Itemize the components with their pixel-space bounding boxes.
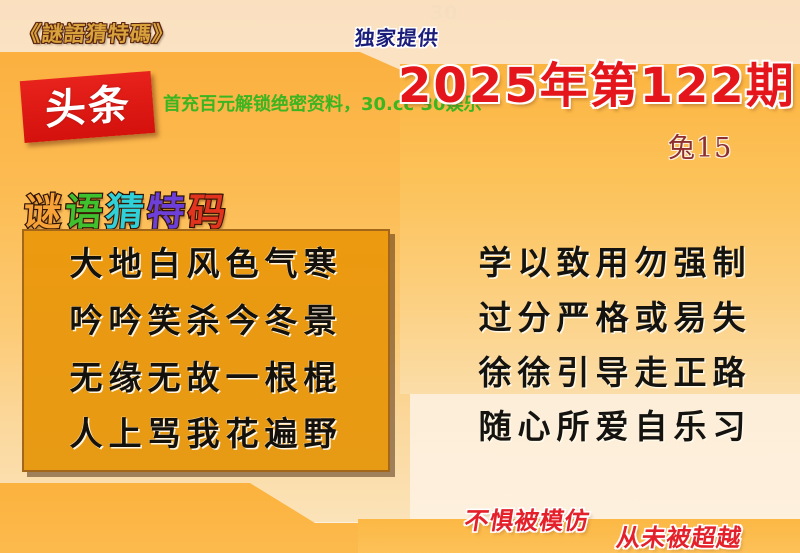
rainbow-headline: 谜语猜特码 [22, 181, 232, 236]
slogan-left: 不惧被模仿 [462, 501, 593, 536]
rainbow-headline-char: 语 [63, 181, 109, 236]
traditional-title: 《謎語猜特碼》 [18, 18, 175, 48]
riddle-line: 人上骂我花遍野 [24, 406, 388, 463]
toutiao-badge-label: 头条 [44, 83, 130, 131]
riddle-line: 无缘无故一根棍 [24, 350, 388, 407]
riddle-line: 大地白风色气寒 [24, 236, 388, 293]
riddle-box: 大地白风色气寒 吟吟笑杀今冬景 无缘无故一根棍 人上骂我花遍野 [22, 229, 390, 472]
rainbow-headline-char: 特 [145, 181, 191, 236]
verse-line: 学以致用勿强制 [440, 236, 790, 291]
riddle-line: 吟吟笑杀今冬景 [24, 293, 388, 350]
lottery-poster: 30 《謎語猜特碼》 头条 首充百元解锁绝密资料，30.cc 30娱乐 独家提供… [0, 0, 800, 553]
slogan-right: 从未被超越 [614, 518, 745, 553]
rainbow-headline-char: 猜 [104, 181, 150, 236]
verse-line: 随心所爱自乐习 [440, 400, 790, 455]
zodiac-label: 兔15 [668, 126, 732, 165]
issue-title: 2025年第122期 [398, 46, 796, 116]
toutiao-badge: 头条 [20, 71, 155, 143]
rainbow-headline-char: 码 [186, 181, 232, 236]
verse-block: 学以致用勿强制 过分严格或易失 徐徐引导走正路 随心所爱自乐习 [440, 236, 790, 455]
verse-line: 徐徐引导走正路 [440, 346, 790, 401]
rainbow-headline-char: 谜 [22, 181, 68, 236]
verse-line: 过分严格或易失 [440, 291, 790, 346]
